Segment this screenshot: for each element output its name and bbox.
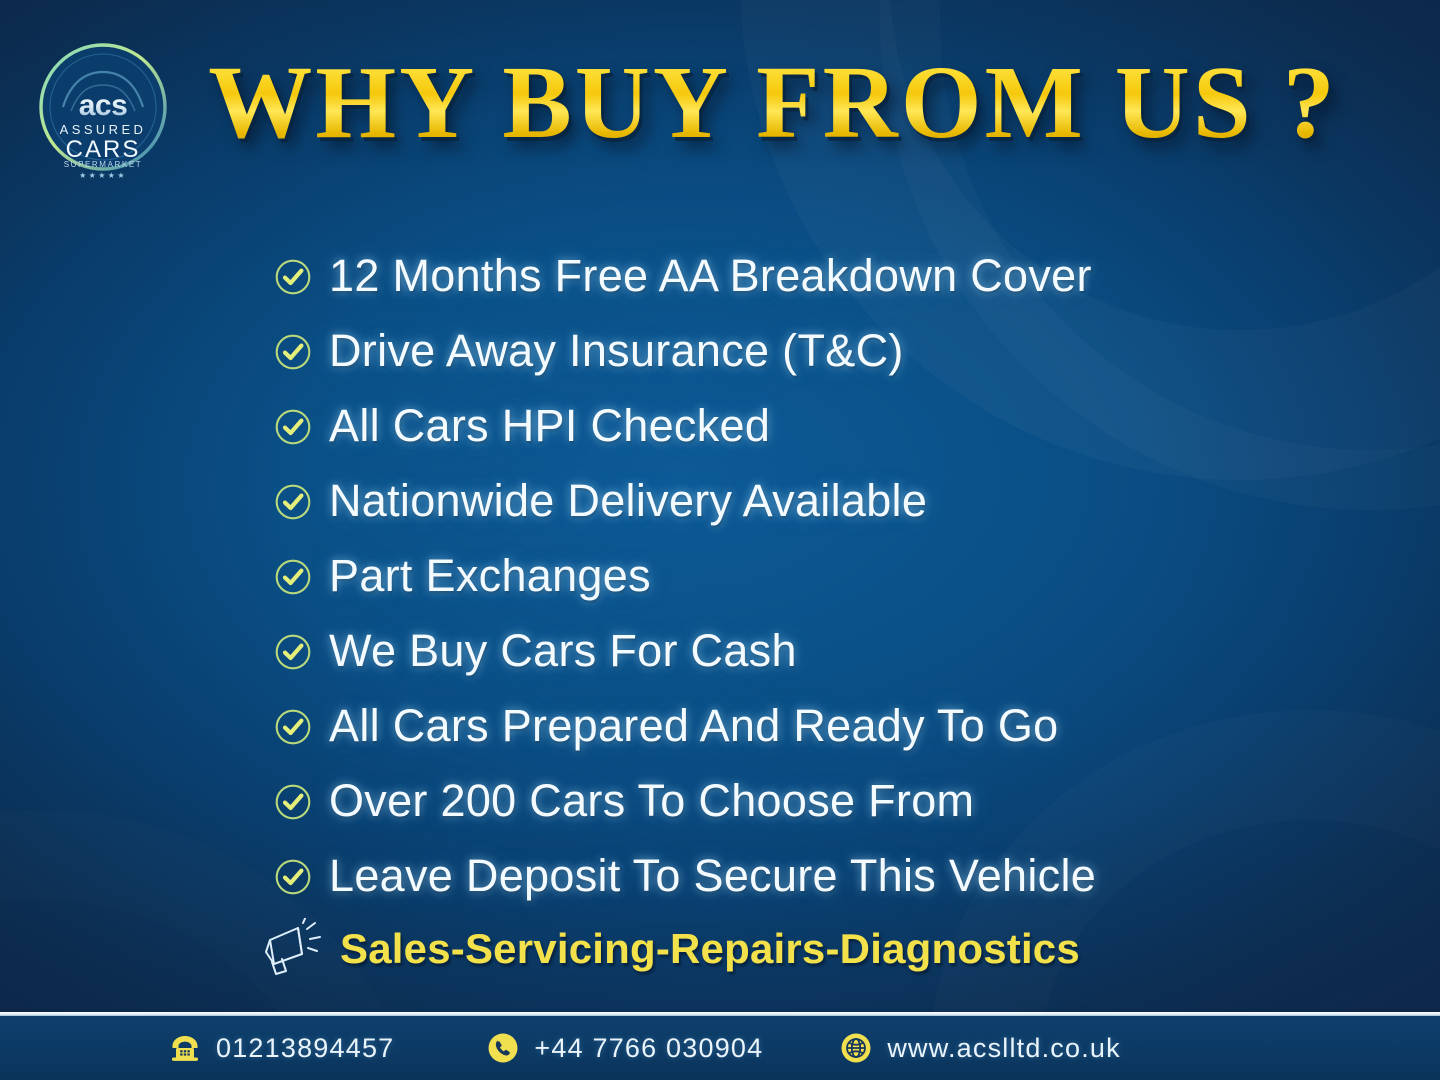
services-tagline-label: Sales-Servicing-Repairs-Diagnostics [340,925,1080,973]
check-circle-icon [274,633,312,671]
check-circle-icon [274,333,312,371]
contact-phone-mobile[interactable]: +44 7766 030904 [486,1031,763,1065]
contact-website[interactable]: www.acslltd.co.uk [839,1031,1120,1065]
page-title: Why Buy From Us ? [198,48,1348,157]
contact-value: +44 7766 030904 [534,1033,763,1064]
check-circle-icon [274,858,312,896]
list-item: Nationwide Delivery Available [274,463,1294,538]
svg-text:ASSURED: ASSURED [60,122,147,137]
check-circle-icon [274,783,312,821]
list-item: Part Exchanges [274,538,1294,613]
check-circle-icon [274,558,312,596]
svg-text:SUPERMARKET: SUPERMARKET [64,160,143,169]
list-item: We Buy Cars For Cash [274,613,1294,688]
list-item: All Cars HPI Checked [274,388,1294,463]
list-item-label: We Buy Cars For Cash [329,628,797,673]
list-item-label: 12 Months Free AA Breakdown Cover [329,253,1092,298]
list-item-label: Part Exchanges [329,553,651,598]
list-item-label: Over 200 Cars To Choose From [329,778,974,823]
list-item: 12 Months Free AA Breakdown Cover [274,238,1294,313]
benefits-list: 12 Months Free AA Breakdown Cover Drive … [274,238,1294,913]
svg-text:acs: acs [79,89,128,122]
list-item: Over 200 Cars To Choose From [274,763,1294,838]
contact-value: www.acslltd.co.uk [887,1033,1120,1064]
list-item: All Cars Prepared And Ready To Go [274,688,1294,763]
globe-icon [839,1031,873,1065]
check-circle-icon [274,408,312,446]
check-circle-icon [274,483,312,521]
poster-canvas: acs ASSURED CARS SUPERMARKET ★★★★★ Why B… [0,0,1440,1080]
contact-phone-landline[interactable]: 01213894457 [168,1031,394,1065]
list-item: Drive Away Insurance (T&C) [274,313,1294,388]
list-item-label: Nationwide Delivery Available [329,478,927,523]
list-item-label: All Cars Prepared And Ready To Go [329,703,1058,748]
list-item: Leave Deposit To Secure This Vehicle [274,838,1294,913]
check-circle-icon [274,708,312,746]
svg-text:CARS: CARS [66,136,141,163]
list-item-label: Leave Deposit To Secure This Vehicle [329,853,1096,898]
phone-circle-icon [486,1031,520,1065]
list-item-label: All Cars HPI Checked [329,403,770,448]
megaphone-icon [258,918,322,980]
check-circle-icon [274,258,312,296]
contact-footer: 01213894457 +44 7766 030904 [0,1016,1440,1080]
services-tagline: Sales-Servicing-Repairs-Diagnostics [258,918,1080,980]
telephone-icon [168,1031,202,1065]
acs-assured-cars-logo: acs ASSURED CARS SUPERMARKET ★★★★★ [27,33,179,185]
list-item-label: Drive Away Insurance (T&C) [329,328,904,373]
svg-text:★★★★★: ★★★★★ [79,171,127,180]
contact-value: 01213894457 [216,1033,394,1064]
poster-header: acs ASSURED CARS SUPERMARKET ★★★★★ Why B… [0,0,1440,196]
